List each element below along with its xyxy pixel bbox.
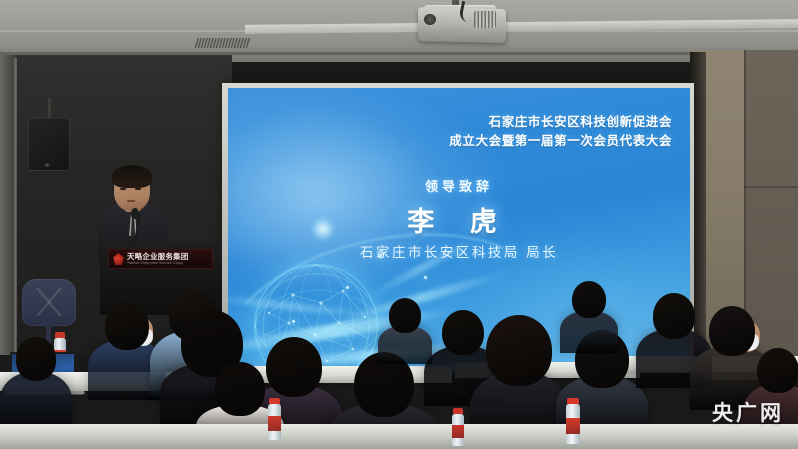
audience-head [709, 306, 755, 356]
wall-speaker-icon [28, 118, 70, 171]
spark [424, 276, 427, 279]
slide-header-line1: 石家庄市长安区科技创新促进会 [449, 113, 672, 132]
water-bottle-label [566, 418, 580, 434]
slide-kicker: 领导致辞 [228, 176, 690, 195]
speaker-mount-arm [48, 98, 51, 120]
slide-speaker-role: 石家庄市长安区科技局 局长 [228, 241, 690, 261]
podium-sign: 天略企业服务集团 Tianlue Enterprise Service Grou… [108, 249, 213, 269]
chair-stitching [30, 288, 68, 316]
audience-head [266, 337, 322, 397]
projector-lens [424, 14, 436, 25]
podium-sign-en: Tianlue Enterprise Service Group [127, 262, 189, 265]
speaker-indicator [45, 163, 49, 167]
spark [292, 320, 295, 323]
watermark: 央广网 [712, 397, 784, 427]
water-bottle-label [268, 416, 281, 430]
audience-head [572, 281, 606, 318]
audience-head [486, 315, 552, 386]
presenter-hair [112, 165, 152, 188]
projector-vent [474, 11, 496, 28]
audience-head [105, 302, 149, 350]
audience-head [442, 310, 484, 355]
slide-header-line2: 成立大会暨第一届第一次会员代表大会 [449, 132, 672, 151]
left-wall-edge [14, 58, 17, 358]
right-wall-seam-horizontal [744, 186, 798, 188]
spark [346, 286, 349, 289]
company-logo-icon [113, 253, 124, 265]
audience-head [653, 293, 695, 338]
screenshot-root: 石家庄市长安区科技创新促进会 成立大会暨第一届第一次会员代表大会 领导致辞 李 … [0, 0, 798, 449]
slide-speaker-name: 李 虎 [228, 200, 690, 239]
slide-header: 石家庄市长安区科技创新促进会 成立大会暨第一届第一次会员代表大会 [449, 113, 672, 152]
audience-head [215, 362, 265, 416]
water-bottle-label [452, 425, 464, 438]
microphone-icon [131, 208, 139, 219]
foreground-desk-row [0, 424, 798, 449]
presenter-mouth [127, 200, 135, 202]
presenter-eye-left [120, 188, 126, 190]
audience-head [16, 337, 56, 380]
podium-sign-cn: 天略企业服务集团 [127, 253, 189, 260]
audience-head [389, 298, 421, 333]
audience-head [757, 348, 798, 393]
ceiling-vent [195, 38, 252, 48]
presenter-eye-right [135, 188, 141, 190]
